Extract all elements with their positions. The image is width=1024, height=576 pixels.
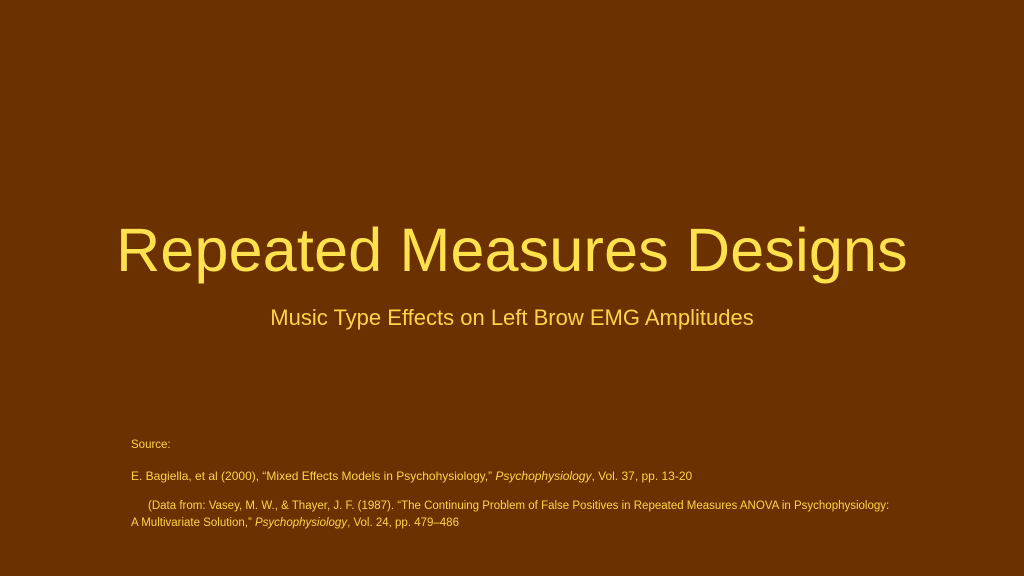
citation-primary-authors: E. Bagiella, et al (2000), “Mixed Effect…	[131, 469, 495, 483]
citation-primary-journal: Psychophysiology	[495, 469, 591, 483]
citation-primary-volume: , Vol. 37, pp. 13-20	[591, 469, 692, 483]
citation-primary: E. Bagiella, et al (2000), “Mixed Effect…	[131, 467, 891, 485]
slide-canvas: Repeated Measures Designs Music Type Eff…	[0, 0, 1024, 576]
source-label: Source:	[131, 437, 891, 454]
slide-subtitle: Music Type Effects on Left Brow EMG Ampl…	[0, 305, 1024, 331]
citation-secondary-journal: Psychophysiology	[255, 517, 347, 529]
page-title: Repeated Measures Designs	[0, 218, 1024, 282]
citation-secondary-prefix: (Data from: Vasey, M. W., & Thayer, J. F…	[131, 500, 889, 528]
citation-secondary-volume: , Vol. 24, pp. 479–486	[347, 517, 459, 529]
citation-secondary: (Data from: Vasey, M. W., & Thayer, J. F…	[131, 498, 891, 531]
source-block: Source: E. Bagiella, et al (2000), “Mixe…	[131, 437, 891, 531]
